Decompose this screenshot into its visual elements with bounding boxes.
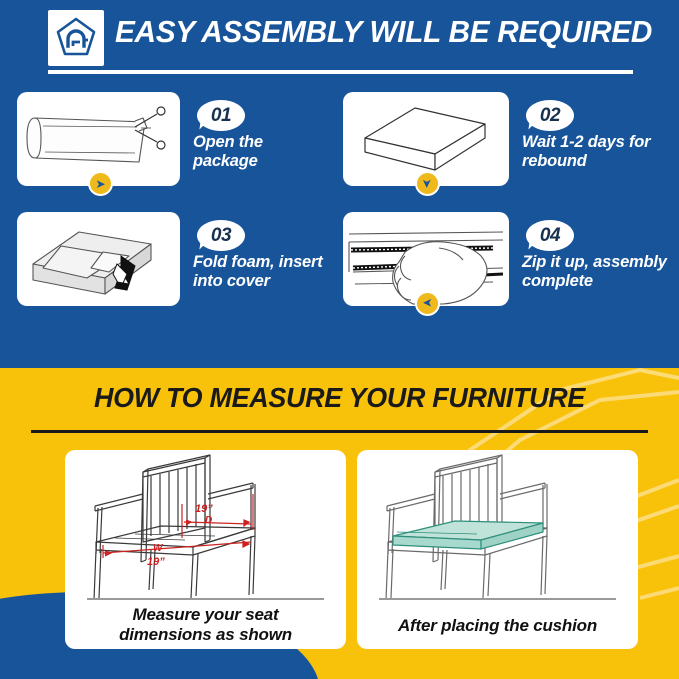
measure-section-divider: [31, 430, 648, 433]
step-02-card: ➤: [343, 92, 509, 186]
page-title: EASY ASSEMBLY WILL BE REQUIRED: [115, 14, 652, 50]
header-divider: [48, 70, 633, 74]
step-04-arrow-left-icon: ➤: [415, 291, 440, 316]
assembly-step-04: ➤ 04 Zip it up, assembly complete: [343, 212, 665, 318]
seat-cushion-icon: [393, 521, 543, 549]
measure-card-caption: After placing the cushion: [367, 616, 628, 636]
assembly-header: EASY ASSEMBLY WILL BE REQUIRED: [0, 0, 679, 78]
step-02-text: Wait 1-2 days for rebound: [522, 132, 677, 170]
assembly-step-01: ➤ 01 Open the package: [17, 92, 337, 198]
width-value-label: 19”: [147, 556, 165, 568]
chair-cushion-illustration: [357, 450, 638, 600]
measure-card-divider: [87, 598, 324, 600]
measure-card-caption: Measure your seat dimensions as shown: [75, 605, 336, 644]
step-number-label: 01: [197, 100, 245, 131]
step-number-label: 04: [526, 220, 574, 251]
step-03-card: [17, 212, 180, 306]
step-04-card: ➤: [343, 212, 509, 306]
step-04-text: Zip it up, assembly complete: [522, 252, 677, 290]
measure-card-chair-dimensions: 19” D W 19” Measure your seat dimensions…: [65, 450, 346, 649]
depth-value-label: 19”: [195, 503, 213, 515]
step-number-label: 03: [197, 220, 245, 251]
step-02-arrow-down-icon: ➤: [415, 171, 440, 196]
measure-section-title: HOW TO MEASURE YOUR FURNITURE: [14, 382, 666, 414]
brand-logo-icon: [48, 10, 104, 66]
infographic-page: HOW TO MEASURE YOUR FURNITURE: [0, 0, 679, 679]
measure-card-divider: [379, 598, 616, 600]
step-04-number-badge: 04: [526, 220, 574, 251]
step-02-number-badge: 02: [526, 100, 574, 131]
step-01-text: Open the package: [193, 132, 339, 170]
step-01-number-badge: 01: [197, 100, 245, 131]
assembly-step-03: 03 Fold foam, insert into cover: [17, 212, 337, 318]
step-01-card: ➤: [17, 92, 180, 186]
chair-dimensions-illustration: 19” D W 19”: [65, 450, 346, 600]
step-01-arrow-right-icon: ➤: [88, 171, 113, 196]
step-03-text: Fold foam, insert into cover: [193, 252, 344, 290]
width-letter-label: W: [153, 543, 164, 554]
depth-letter-label: D: [205, 515, 212, 526]
step-number-label: 02: [526, 100, 574, 131]
assembly-step-02: ➤ 02 Wait 1-2 days for rebound: [343, 92, 665, 198]
step-03-number-badge: 03: [197, 220, 245, 251]
foam-into-cover-icon: [17, 212, 180, 306]
measure-card-chair-with-cushion: After placing the cushion: [357, 450, 638, 649]
assembly-section: EASY ASSEMBLY WILL BE REQUIRED: [0, 0, 679, 368]
